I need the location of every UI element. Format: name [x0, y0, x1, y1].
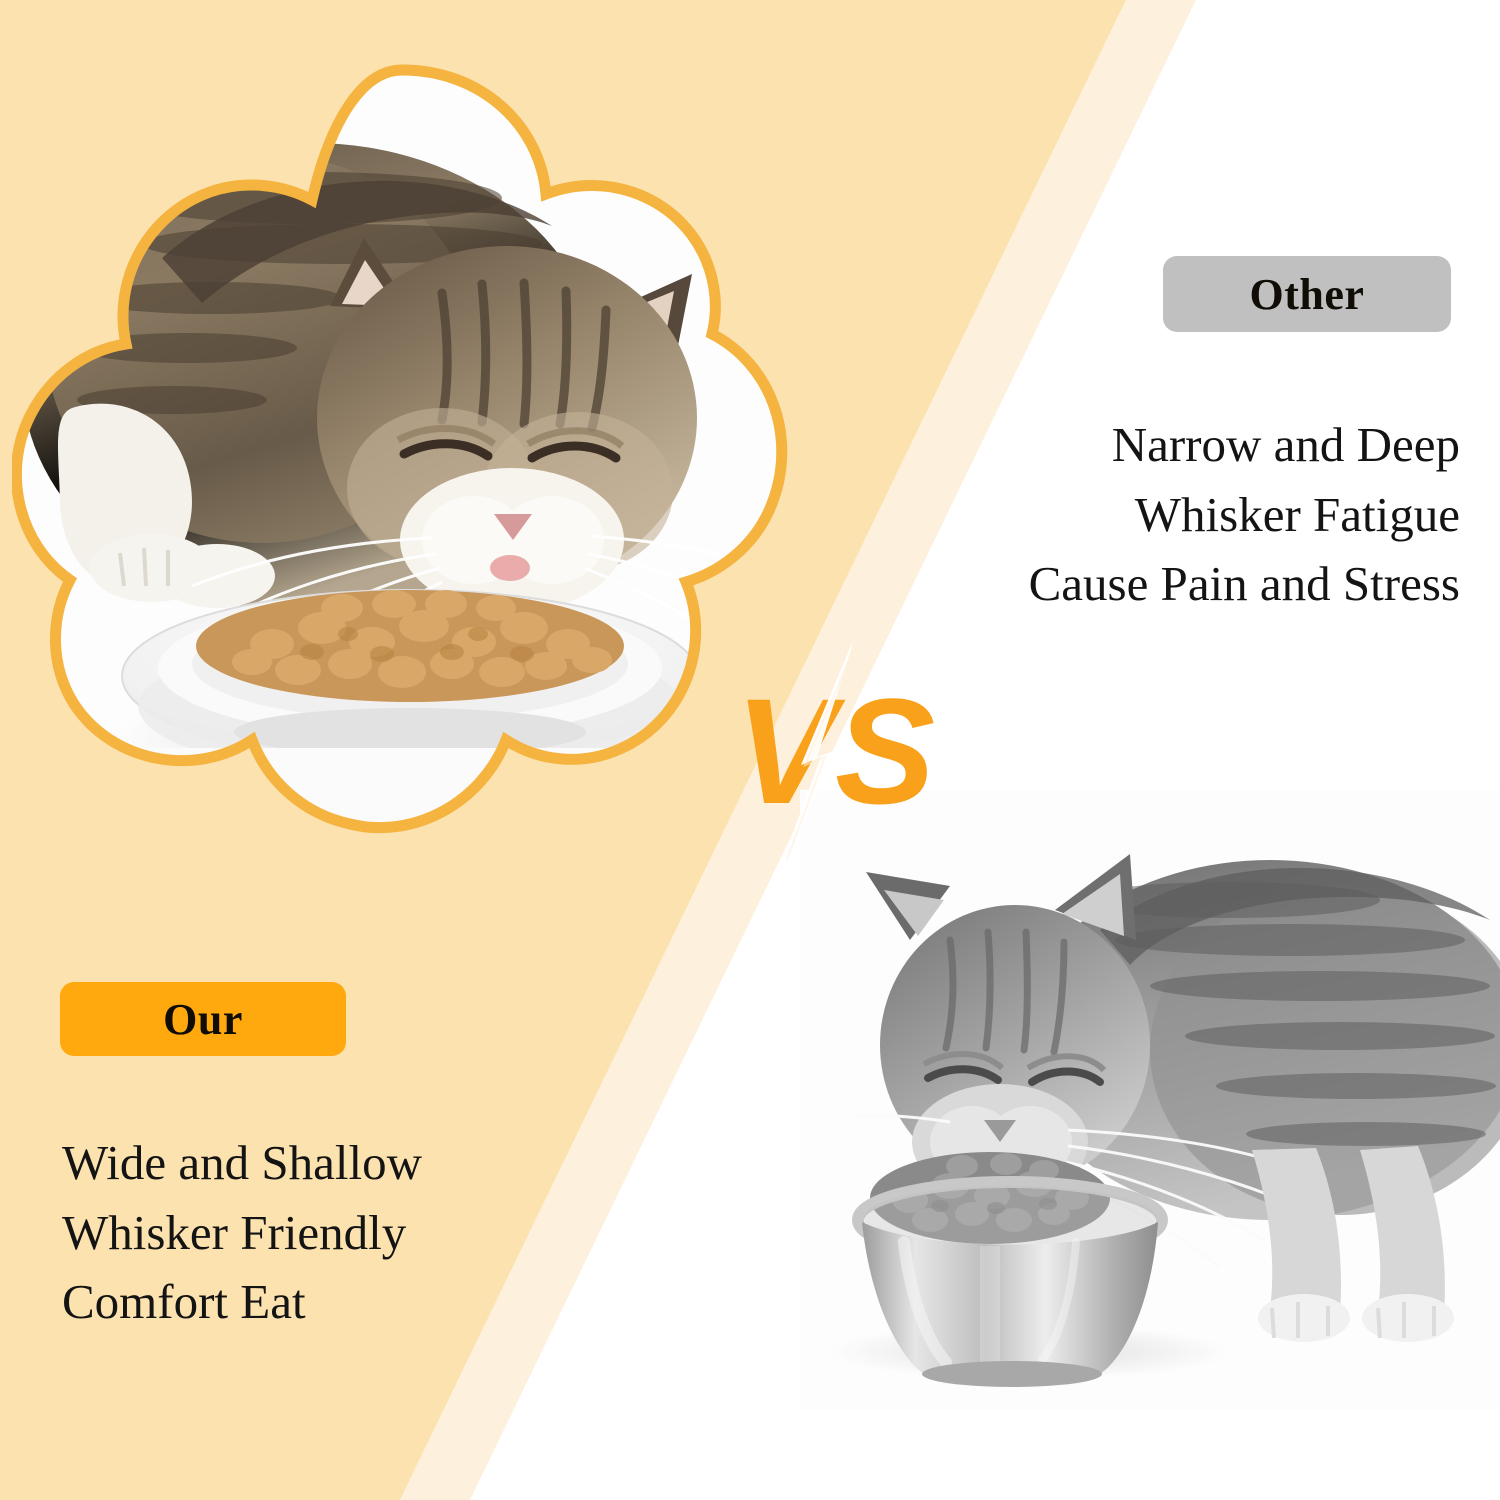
other-feature-1: Whisker Fatigue	[840, 480, 1460, 550]
other-badge-label: Other	[1250, 269, 1365, 320]
our-badge-label: Our	[163, 994, 243, 1045]
other-badge: Other	[1163, 256, 1451, 332]
other-feature-2: Cause Pain and Stress	[840, 549, 1460, 619]
vs-divider-mark: VS	[735, 645, 935, 860]
our-product-photo	[12, 48, 792, 863]
our-feature-list: Wide and Shallow Whisker Friendly Comfor…	[62, 1128, 702, 1337]
our-feature-0: Wide and Shallow	[62, 1128, 702, 1198]
our-feature-2: Comfort Eat	[62, 1267, 702, 1337]
other-feature-0: Narrow and Deep	[840, 410, 1460, 480]
infographic-canvas: VS Other Our Narrow and Deep Whisker Fat…	[0, 0, 1500, 1500]
our-feature-1: Whisker Friendly	[62, 1198, 702, 1268]
our-badge: Our	[60, 982, 346, 1056]
other-feature-list: Narrow and Deep Whisker Fatigue Cause Pa…	[840, 410, 1460, 619]
other-product-photo	[800, 790, 1500, 1410]
